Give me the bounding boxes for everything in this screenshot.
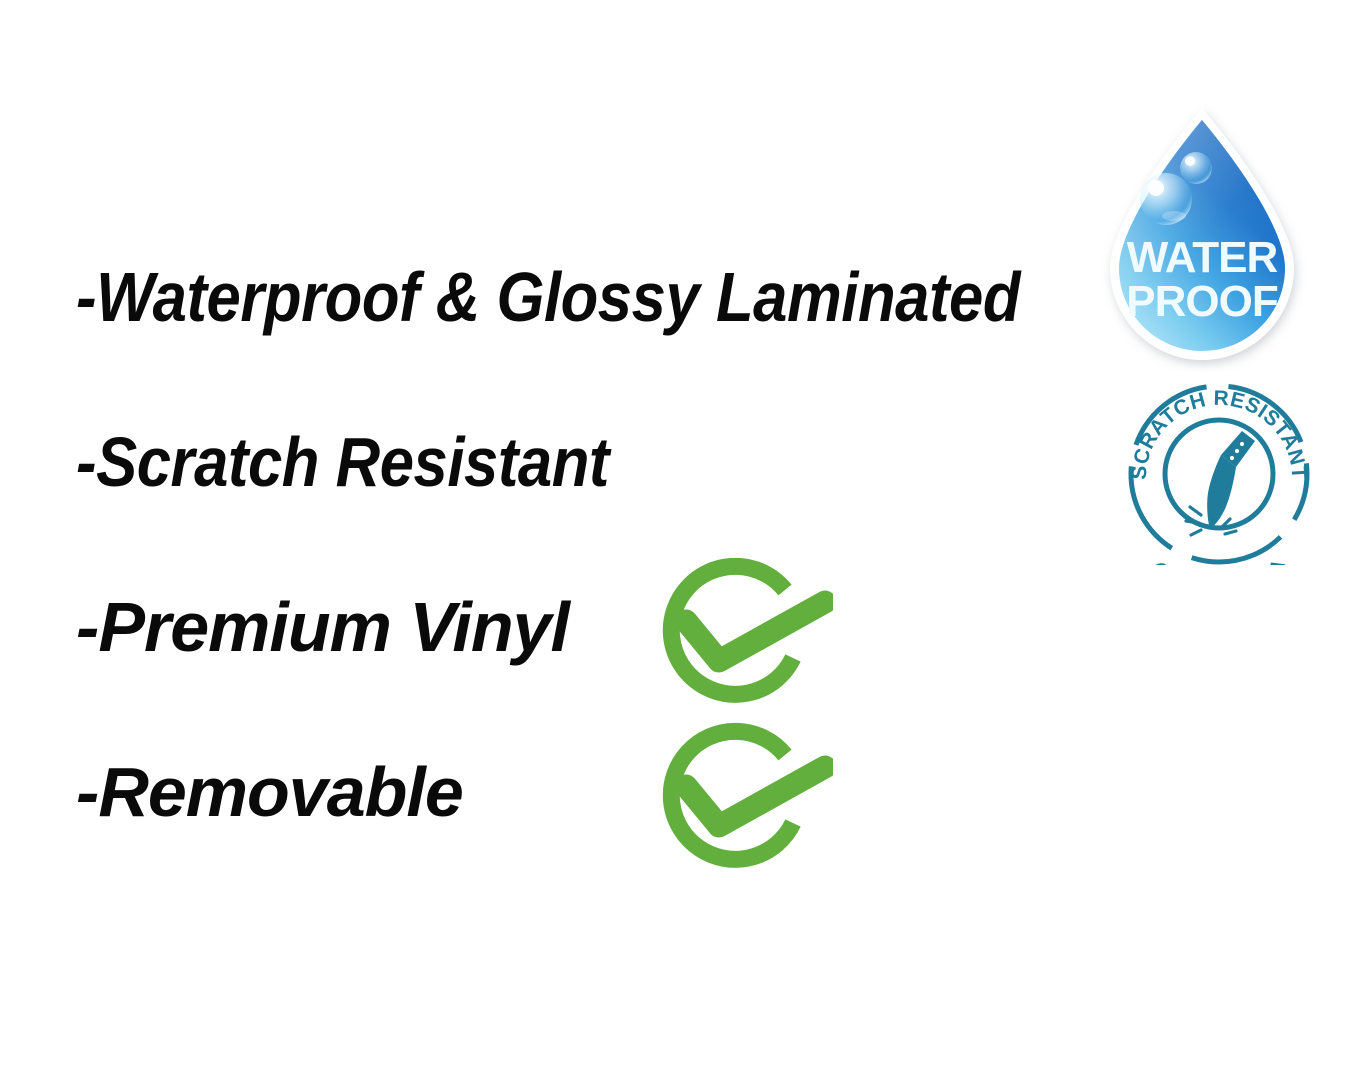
feature-label: Waterproof & Glossy Laminated [96,258,1020,336]
waterproof-line1: WATER [1127,233,1278,282]
knife-icon [1207,431,1255,529]
feature-bullet-dash: - [76,427,96,497]
feature-label: Removable [98,753,462,831]
feature-bullet-dash: - [76,592,98,662]
feature-bullet-dash: - [76,757,98,827]
feature-label: Scratch Resistant [96,423,609,501]
feature-bullet-dash: - [76,262,96,332]
waterproof-badge: WATER PROOF [1098,102,1306,372]
feature-item-scratch-resistant: -Scratch Resistant [76,427,609,497]
feature-item-premium-vinyl: -Premium Vinyl [76,592,569,662]
feature-item-removable: -Removable [76,757,463,827]
check-circle-icon [643,558,833,706]
bubble-small-icon [1180,152,1212,184]
check-circle-icon [643,722,833,872]
waterproof-line2: PROOF [1126,277,1278,326]
feature-label: Premium Vinyl [98,588,569,666]
feature-item-waterproof: -Waterproof & Glossy Laminated [76,262,1020,332]
scratch-resistant-badge: SCRATCH RESISTANT SCRATCH RESISTANT [1124,383,1314,565]
feature-graphic-canvas: -Waterproof & Glossy Laminated -Scratch … [0,0,1359,1080]
